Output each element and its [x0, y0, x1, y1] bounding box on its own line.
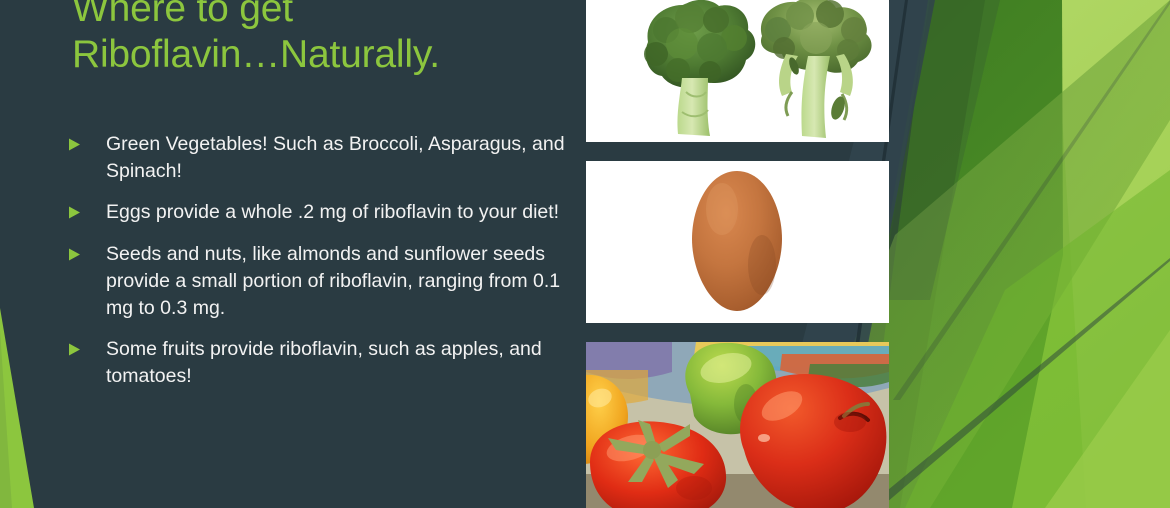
presentation-slide: Where to get Riboflavin…Naturally. Green…	[0, 0, 1170, 508]
list-item: Some fruits provide riboflavin, such as …	[68, 336, 568, 389]
pale-green-sliver	[1055, 0, 1170, 508]
broccoli-photo	[586, 0, 889, 142]
triangle-right-icon	[68, 343, 81, 356]
list-item: Seeds and nuts, like almonds and sunflow…	[68, 241, 568, 321]
left-green-wedge	[0, 308, 34, 508]
triangle-right-icon	[68, 248, 81, 261]
triangle-right-icon	[68, 138, 81, 151]
slate-film	[880, 0, 1000, 300]
list-item-label: Some fruits provide riboflavin, such as …	[106, 336, 568, 389]
bullet-list: Green Vegetables! Such as Broccoli, Aspa…	[68, 131, 568, 405]
list-item: Eggs provide a whole .2 mg of riboflavin…	[68, 199, 568, 226]
egg-photo	[586, 161, 889, 323]
list-item: Green Vegetables! Such as Broccoli, Aspa…	[68, 131, 568, 184]
bright-green-panel	[930, 0, 1170, 508]
hairline-diagonal-2	[866, 258, 1170, 508]
forest-green-panel	[862, 0, 1063, 508]
triangle-right-icon	[68, 206, 81, 219]
list-item-label: Seeds and nuts, like almonds and sunflow…	[106, 241, 568, 321]
list-item-label: Green Vegetables! Such as Broccoli, Aspa…	[106, 131, 568, 184]
mid-green-overlay	[905, 170, 1170, 508]
slide-title: Where to get Riboflavin…Naturally.	[72, 0, 572, 78]
hairline-diagonal-3	[893, 0, 1170, 400]
list-item-label: Eggs provide a whole .2 mg of riboflavin…	[106, 199, 568, 226]
fruit-photo	[586, 342, 889, 508]
left-slate-sliver	[0, 330, 12, 508]
lower-bright-triangle	[1045, 330, 1170, 508]
